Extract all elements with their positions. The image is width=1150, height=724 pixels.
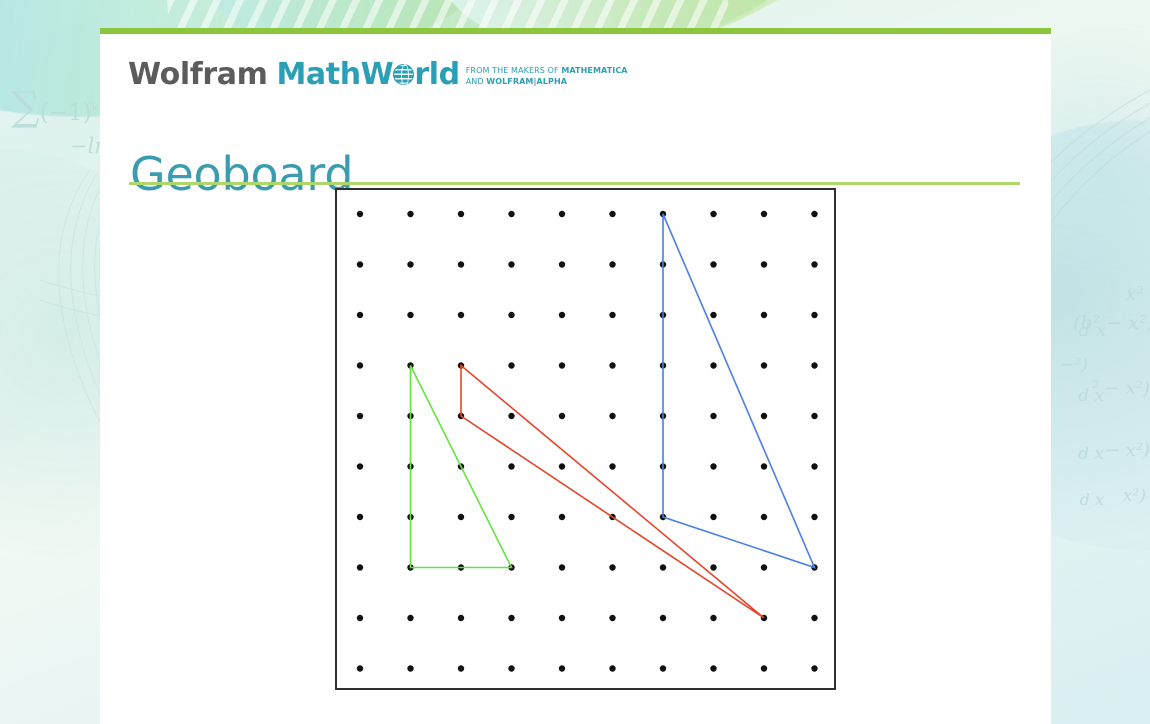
geoboard-peg[interactable] bbox=[458, 514, 464, 520]
geoboard-peg[interactable] bbox=[710, 312, 716, 318]
background-formula-r3: d x bbox=[1079, 320, 1106, 341]
geoboard-peg[interactable] bbox=[357, 261, 363, 267]
geoboard-peg[interactable] bbox=[508, 413, 514, 419]
geoboard-peg[interactable] bbox=[811, 665, 817, 671]
tagline-line-2-text: AND bbox=[466, 77, 487, 86]
sum-body: (−1) bbox=[40, 100, 92, 126]
geoboard-peg[interactable] bbox=[710, 413, 716, 419]
geoboard-peg[interactable] bbox=[609, 615, 615, 621]
geoboard-peg[interactable] bbox=[609, 413, 615, 419]
page-title: Geoboard bbox=[130, 151, 353, 197]
geoboard-peg[interactable] bbox=[357, 362, 363, 368]
globe-icon bbox=[393, 64, 414, 85]
geoboard-peg[interactable] bbox=[710, 615, 716, 621]
geoboard-peg[interactable] bbox=[609, 211, 615, 217]
title-divider bbox=[129, 182, 1020, 185]
geoboard-peg[interactable] bbox=[458, 665, 464, 671]
geoboard-peg[interactable] bbox=[559, 463, 565, 469]
background-formula-r7: − x²) bbox=[1105, 440, 1150, 461]
geoboard-peg[interactable] bbox=[559, 665, 565, 671]
geoboard-peg[interactable] bbox=[609, 362, 615, 368]
geoboard-peg[interactable] bbox=[811, 615, 817, 621]
geoboard-peg[interactable] bbox=[660, 615, 666, 621]
geoboard-peg[interactable] bbox=[811, 261, 817, 267]
geoboard-peg[interactable] bbox=[508, 665, 514, 671]
sum-upper-limit: ∞ bbox=[2, 101, 11, 114]
background-formula-r4: −²) bbox=[1060, 355, 1088, 375]
background-formula-r9: x²) bbox=[1123, 486, 1146, 506]
geoboard-peg[interactable] bbox=[811, 514, 817, 520]
geoboard-peg[interactable] bbox=[559, 413, 565, 419]
geoboard-peg[interactable] bbox=[407, 665, 413, 671]
geoboard-peg[interactable] bbox=[357, 564, 363, 570]
geoboard-peg[interactable] bbox=[761, 261, 767, 267]
tagline-line-1: FROM THE MAKERS OF MATHEMATICA bbox=[466, 66, 628, 75]
geoboard-figure bbox=[335, 188, 836, 690]
background-formula-sum: ∞∑(−1)k−1 bbox=[2, 84, 114, 130]
geoboard-peg[interactable] bbox=[609, 463, 615, 469]
geoboard-peg[interactable] bbox=[508, 615, 514, 621]
site-masthead[interactable]: Wolfram MathWrld FROM THE MAKERS OF MATH… bbox=[128, 60, 628, 90]
geoboard-peg[interactable] bbox=[811, 463, 817, 469]
tagline-line-1-text: FROM THE MAKERS OF bbox=[466, 66, 562, 75]
geoboard-peg[interactable] bbox=[609, 665, 615, 671]
blue-quadrilateral[interactable] bbox=[663, 214, 815, 568]
geoboard-canvas bbox=[337, 190, 834, 688]
geoboard-peg[interactable] bbox=[357, 211, 363, 217]
geoboard-peg[interactable] bbox=[357, 463, 363, 469]
geoboard-peg[interactable] bbox=[559, 211, 565, 217]
geoboard-peg[interactable] bbox=[761, 413, 767, 419]
geoboard-peg[interactable] bbox=[407, 312, 413, 318]
geoboard-peg[interactable] bbox=[761, 463, 767, 469]
geoboard-peg[interactable] bbox=[710, 261, 716, 267]
geoboard-peg[interactable] bbox=[407, 261, 413, 267]
geoboard-peg[interactable] bbox=[811, 312, 817, 318]
background-formula-r10: d x bbox=[1080, 490, 1104, 509]
geoboard-peg[interactable] bbox=[761, 211, 767, 217]
geoboard-peg[interactable] bbox=[710, 362, 716, 368]
geoboard-peg[interactable] bbox=[761, 564, 767, 570]
red-sliver-triangle[interactable] bbox=[461, 366, 764, 619]
page-root: ∞∑(−1)k−1 −ln x² (b² − x²) d x −²) ² − x… bbox=[0, 0, 1150, 724]
geoboard-peg[interactable] bbox=[458, 312, 464, 318]
geoboard-peg[interactable] bbox=[508, 261, 514, 267]
logo-mathworld-text: MathWrld bbox=[276, 60, 459, 90]
tagline-mathematica: MATHEMATICA bbox=[561, 66, 627, 75]
brand-tagline: FROM THE MAKERS OF MATHEMATICA AND WOLFR… bbox=[466, 66, 628, 87]
geoboard-peg[interactable] bbox=[458, 211, 464, 217]
geoboard-peg[interactable] bbox=[710, 211, 716, 217]
geoboard-peg[interactable] bbox=[508, 362, 514, 368]
background-formula-r6: d x bbox=[1078, 386, 1104, 406]
geoboard-dot-grid bbox=[357, 211, 818, 688]
geoboard-peg[interactable] bbox=[761, 514, 767, 520]
geoboard-peg[interactable] bbox=[357, 312, 363, 318]
geoboard-peg[interactable] bbox=[811, 211, 817, 217]
geoboard-peg[interactable] bbox=[357, 665, 363, 671]
geoboard-peg[interactable] bbox=[609, 312, 615, 318]
tagline-line-2: AND WOLFRAM|ALPHA bbox=[466, 77, 628, 88]
geoboard-peg[interactable] bbox=[559, 261, 565, 267]
geoboard-peg[interactable] bbox=[559, 615, 565, 621]
geoboard-peg[interactable] bbox=[458, 615, 464, 621]
geoboard-peg[interactable] bbox=[710, 463, 716, 469]
geoboard-peg[interactable] bbox=[508, 514, 514, 520]
mathworld-prefix: MathW bbox=[276, 60, 393, 90]
geoboard-peg[interactable] bbox=[357, 514, 363, 520]
content-panel: Wolfram MathWrld FROM THE MAKERS OF MATH… bbox=[100, 28, 1051, 724]
geoboard-peg[interactable] bbox=[609, 564, 615, 570]
geoboard-peg[interactable] bbox=[508, 312, 514, 318]
geoboard-peg[interactable] bbox=[559, 362, 565, 368]
geoboard-peg[interactable] bbox=[357, 413, 363, 419]
geoboard-peg[interactable] bbox=[407, 615, 413, 621]
geoboard-peg[interactable] bbox=[761, 312, 767, 318]
geoboard-peg[interactable] bbox=[508, 463, 514, 469]
mathworld-suffix: rld bbox=[414, 60, 459, 90]
geoboard-peg[interactable] bbox=[559, 564, 565, 570]
tagline-wolframalpha: WOLFRAM|ALPHA bbox=[486, 77, 567, 86]
geoboard-peg[interactable] bbox=[559, 514, 565, 520]
geoboard-peg[interactable] bbox=[559, 312, 565, 318]
geoboard-peg[interactable] bbox=[811, 362, 817, 368]
geoboard-peg[interactable] bbox=[761, 362, 767, 368]
geoboard-peg[interactable] bbox=[357, 615, 363, 621]
geoboard-peg[interactable] bbox=[407, 211, 413, 217]
geoboard-peg[interactable] bbox=[458, 261, 464, 267]
background-formula-r1: x² bbox=[1126, 283, 1144, 305]
geoboard-peg[interactable] bbox=[710, 514, 716, 520]
geoboard-peg[interactable] bbox=[811, 413, 817, 419]
geoboard-peg[interactable] bbox=[508, 211, 514, 217]
geoboard-peg[interactable] bbox=[660, 564, 666, 570]
geoboard-peg[interactable] bbox=[609, 261, 615, 267]
geoboard-peg[interactable] bbox=[710, 564, 716, 570]
geoboard-peg[interactable] bbox=[710, 665, 716, 671]
background-formula-r8: d x bbox=[1078, 444, 1104, 464]
logo-wolfram-text: Wolfram bbox=[128, 60, 267, 90]
sum-sigma: ∑ bbox=[11, 84, 40, 130]
geoboard-peg[interactable] bbox=[660, 665, 666, 671]
geoboard-peg[interactable] bbox=[761, 665, 767, 671]
